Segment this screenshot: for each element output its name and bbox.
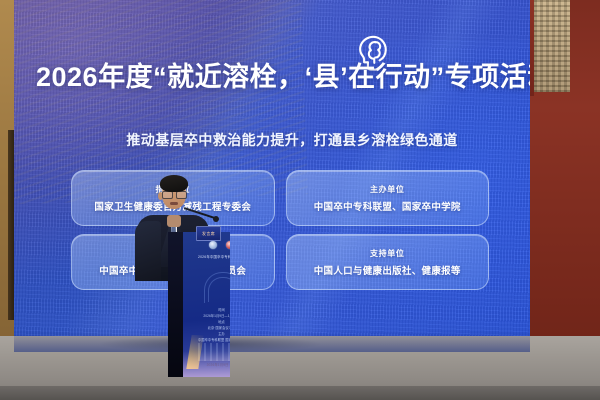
podium-skyline-graphic	[198, 343, 230, 361]
podium-nameplate-text: 发言席	[202, 231, 215, 237]
podium-detail-line-2: 2026年1月9日—1月11日	[198, 314, 230, 320]
led-backdrop-screen: 2026年度“就近溶栓，‘县’在行动”专项活动介绍 推动基层卒中救治能力提升，打…	[14, 0, 530, 352]
speaker-mouth	[170, 202, 178, 205]
podium-gold-accent	[186, 335, 203, 369]
card-value: 中国人口与健康出版社、健康报等	[314, 263, 461, 277]
podium-front-panel: 2026年中国卒中专科联盟工作会议 时间 2026年1月9日—1月11日 地点 …	[183, 232, 230, 377]
organizer-card-host: 主办单位 中国卒中专科联盟、国家卒中学院	[286, 170, 490, 226]
speaker-hair	[160, 175, 188, 192]
podium-side-panel	[168, 232, 183, 377]
screen-content: 2026年度“就近溶栓，‘县’在行动”专项活动介绍 推动基层卒中救治能力提升，打…	[14, 0, 530, 352]
conference-stage-screenshot: 2026年度“就近溶栓，‘县’在行动”专项活动介绍 推动基层卒中救治能力提升，打…	[0, 0, 600, 400]
organizer-card-support: 支持单位 中国人口与健康出版社、健康报等	[286, 234, 490, 290]
podium-detail-line-3: 地点	[198, 320, 230, 326]
podium-emblem-row	[198, 241, 230, 249]
decorative-wall-panel	[534, 0, 570, 92]
podium-arch-inner	[208, 277, 230, 302]
card-label: 主办单位	[370, 184, 404, 195]
page-title: 2026年度“就近溶栓，‘县’在行动”专项活动介绍	[14, 62, 530, 93]
card-value: 中国卒中专科联盟、国家卒中学院	[314, 199, 461, 213]
card-label: 支持单位	[370, 248, 404, 259]
podium-detail-line-1: 时间	[198, 308, 230, 314]
microphone-head	[213, 216, 219, 222]
podium-detail-line-4: 北京·国家会议中心	[198, 326, 230, 332]
podium-bottom-text: 2026年1月9日 北京	[198, 362, 230, 367]
speaker-neck	[167, 215, 181, 227]
organizer-card-grid: 指导单位 国家卫生健康委百万减残工程专委会 主办单位 中国卒中专科联盟、国家卒中…	[71, 170, 489, 290]
stage-floor-edge	[0, 386, 600, 400]
speaker-shoulder-left	[135, 221, 161, 281]
emblem-blue-icon	[209, 241, 217, 249]
podium-banner-text: 2026年中国卒中专科联盟工作会议	[198, 254, 230, 259]
page-subtitle: 推动基层卒中救治能力提升，打通县乡溶栓绿色通道	[14, 130, 530, 150]
emblem-red-icon	[226, 241, 230, 249]
speaking-podium: 2026年中国卒中专科联盟工作会议 时间 2026年1月9日—1月11日 地点 …	[168, 232, 230, 377]
podium-nameplate: 发言席	[196, 226, 221, 241]
